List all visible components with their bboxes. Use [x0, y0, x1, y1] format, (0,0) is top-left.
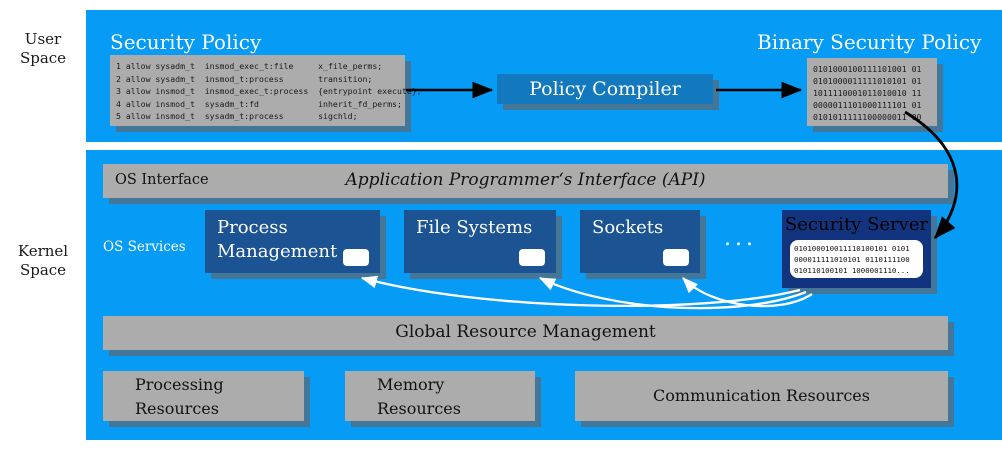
binary-security-policy-text: 0101000100111101001 01 01010000111110101… [813, 63, 921, 123]
security-policy-code-block: 1 allow sysadm_t insmod_exec_t:file x_fi… [110, 55, 405, 126]
service-label-process-management: Process Management [217, 216, 337, 264]
resource-label-processing: Processing Resources [135, 373, 224, 421]
security-policy-heading: Security Policy [110, 30, 261, 54]
kernel-space-label: Kernel Space [0, 242, 86, 280]
service-box-process-management[interactable]: Process Management [205, 210, 380, 273]
api-label: Application Programmer‘s Interface (API) [103, 170, 948, 190]
service-box-sockets[interactable]: Sockets [580, 210, 700, 273]
hook-marker-icon [663, 249, 689, 266]
global-resource-management-label: Global Resource Management [103, 322, 948, 342]
resource-box-processing: Processing Resources [103, 371, 304, 421]
diagram-canvas: User Space Kernel Space Security Policy … [0, 0, 1002, 450]
security-server-binary-text: 010100010011110100101 0101 0000111110101… [794, 243, 910, 276]
resource-label-memory: Memory Resources [377, 373, 461, 421]
security-server-box[interactable]: Security Server 010100010011110100101 01… [782, 210, 931, 288]
binary-security-policy-block: 0101000100111101001 01 01010000111110101… [807, 58, 937, 126]
security-server-label: Security Server [782, 214, 931, 235]
binary-security-policy-heading: Binary Security Policy [757, 30, 981, 54]
hook-marker-icon [343, 249, 369, 266]
resource-box-memory: Memory Resources [345, 371, 535, 421]
service-label-file-systems: File Systems [416, 216, 532, 240]
service-box-file-systems[interactable]: File Systems [404, 210, 556, 273]
policy-compiler-box[interactable]: Policy Compiler [497, 74, 713, 104]
os-services-label: OS Services [103, 239, 186, 255]
global-resource-management-row: Global Resource Management [103, 316, 948, 350]
hook-marker-icon [519, 249, 545, 266]
services-ellipsis: ... [724, 226, 757, 251]
security-policy-code-text: 1 allow sysadm_t insmod_exec_t:file x_fi… [116, 60, 422, 123]
resource-box-communication: Communication Resources [575, 371, 948, 421]
user-space-label: User Space [0, 30, 86, 68]
os-interface-row: OS Interface Application Programmer‘s In… [103, 164, 948, 198]
service-label-sockets: Sockets [592, 216, 663, 240]
policy-compiler-label: Policy Compiler [497, 78, 713, 100]
security-server-binary-card: 010100010011110100101 0101 0000111110101… [790, 240, 923, 278]
resource-label-communication: Communication Resources [575, 384, 948, 408]
